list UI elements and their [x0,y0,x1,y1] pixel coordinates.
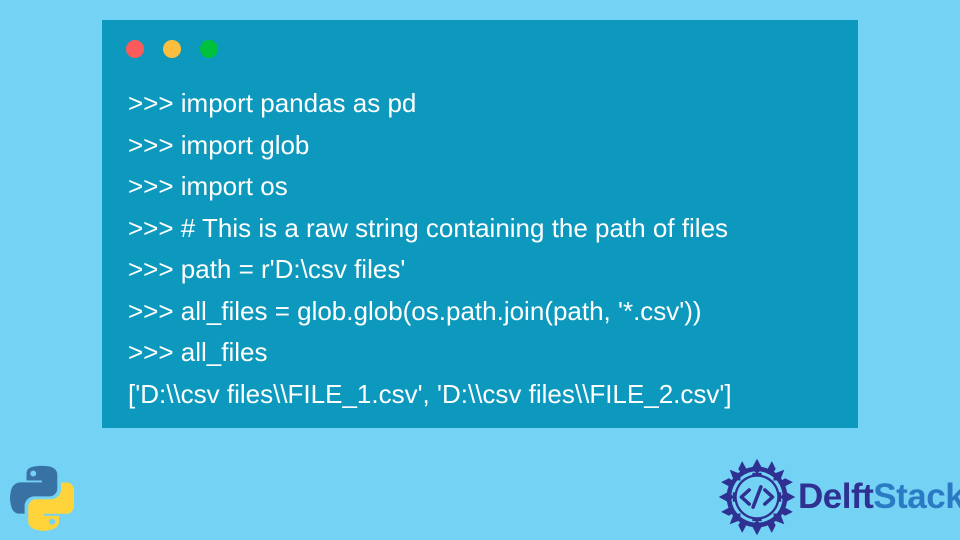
terminal-titlebar [126,40,218,58]
terminal-code-block: >>> import pandas as pd >>> import glob … [128,83,850,415]
close-button[interactable] [126,40,144,58]
delftstack-logo: DelftStack [718,458,943,536]
code-line: >>> import os [128,166,850,208]
code-line: >>> import glob [128,125,850,167]
code-line-output: ['D:\\csv files\\FILE_1.csv', 'D:\\csv f… [128,374,850,416]
code-line: >>> all_files = glob.glob(os.path.join(p… [128,291,850,333]
delftstack-wordmark: DelftStack [798,477,960,517]
wordmark-stack: Stack [873,477,960,516]
wordmark-delft: Delft [798,477,873,516]
code-line: >>> all_files [128,332,850,374]
code-line: >>> path = r'D:\csv files' [128,249,850,291]
maximize-button[interactable] [200,40,218,58]
terminal-window: >>> import pandas as pd >>> import glob … [102,20,858,428]
code-line: >>> import pandas as pd [128,83,850,125]
delftstack-emblem-icon [718,458,796,536]
python-logo [10,452,74,540]
code-line: >>> # This is a raw string containing th… [128,208,850,250]
minimize-button[interactable] [163,40,181,58]
